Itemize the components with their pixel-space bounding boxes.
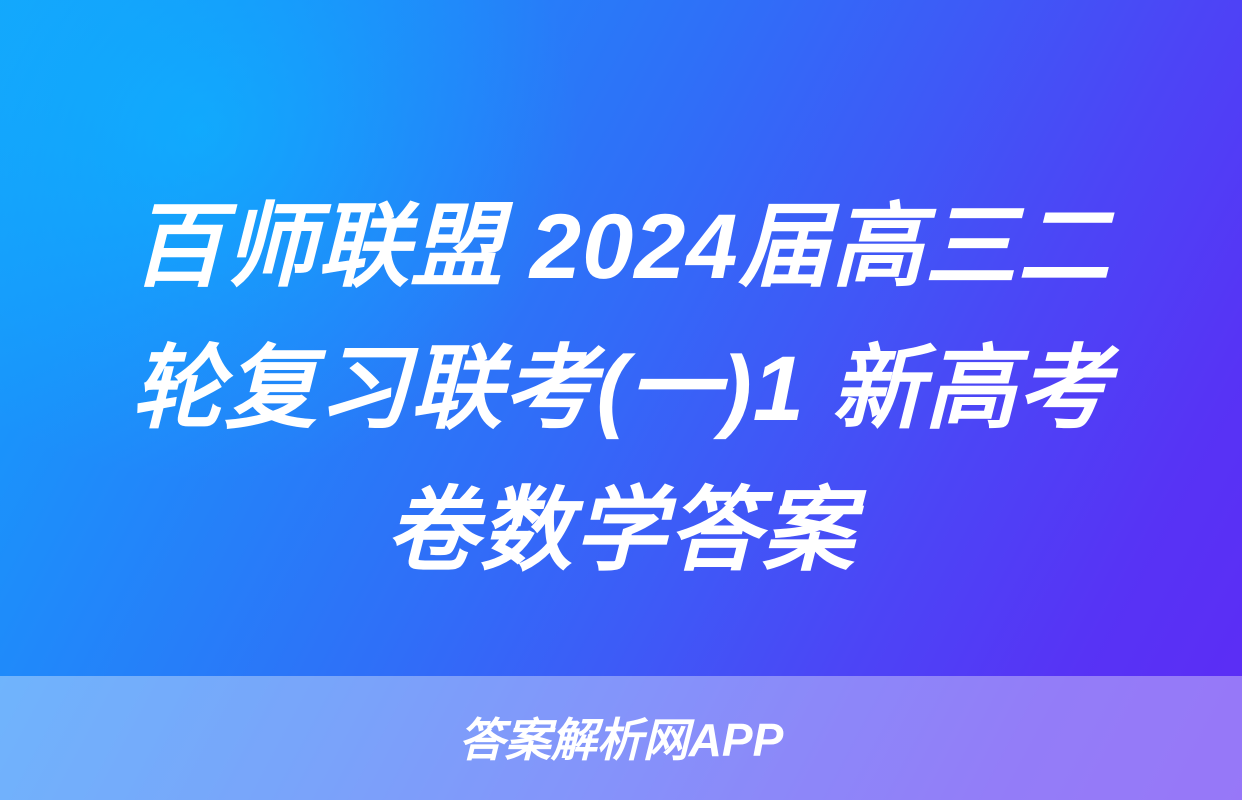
footer-band: 答案解析网APP bbox=[0, 676, 1242, 800]
title-line-1: 百师联盟 2024届高三二 bbox=[60, 176, 1182, 318]
title-line-3: 卷数学答案 bbox=[60, 460, 1182, 602]
poster-card: 百师联盟 2024届高三二 轮复习联考(一)1 新高考 卷数学答案 答案解析网A… bbox=[0, 0, 1242, 800]
title-line-2: 轮复习联考(一)1 新高考 bbox=[60, 318, 1182, 460]
app-watermark-label: 答案解析网APP bbox=[459, 717, 784, 763]
poster-title: 百师联盟 2024届高三二 轮复习联考(一)1 新高考 卷数学答案 bbox=[0, 176, 1242, 602]
